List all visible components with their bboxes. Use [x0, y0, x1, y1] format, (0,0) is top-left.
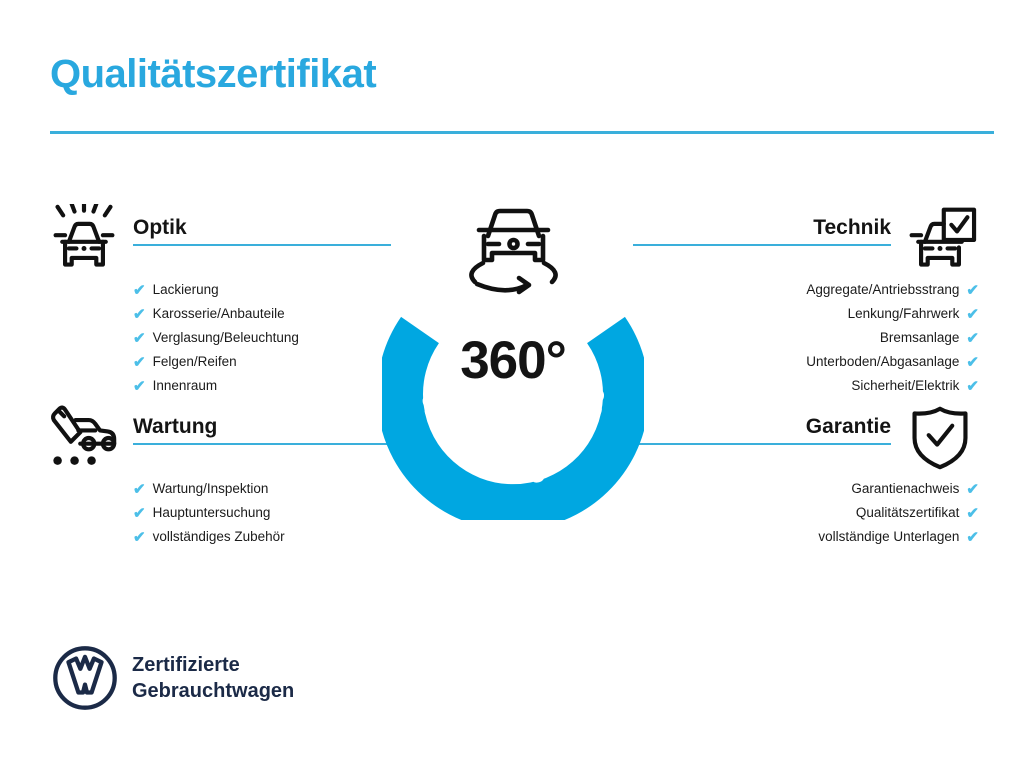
- car-checkbox-icon: [901, 208, 979, 270]
- list-item-label: Qualitätszertifikat: [856, 501, 960, 525]
- section-optik-title: Optik: [133, 216, 391, 239]
- list-item: ✔Wartung/Inspektion: [133, 477, 391, 501]
- check-icon: ✔: [133, 379, 146, 394]
- list-item: Qualitätszertifikat✔: [721, 501, 979, 525]
- section-garantie-list: Garantienachweis✔ Qualitätszertifikat✔ v…: [721, 477, 979, 549]
- section-optik-divider: [133, 244, 391, 246]
- check-icon: ✔: [133, 355, 146, 370]
- vw-logo-line2: Gebrauchtwagen: [132, 678, 294, 704]
- check-icon: ✔: [966, 530, 979, 545]
- list-item-label: Sicherheit/Elektrik: [851, 374, 959, 398]
- vw-logo-block: Zertifizierte Gebrauchtwagen: [52, 645, 294, 711]
- list-item-label: vollständiges Zubehör: [153, 525, 285, 549]
- check-icon: ✔: [133, 506, 146, 521]
- list-item: ✔Hauptuntersuchung: [133, 501, 391, 525]
- section-optik: Optik ✔Lackierung ✔Karosserie/Anbauteile…: [45, 208, 391, 398]
- list-item-label: Unterboden/Abgasanlage: [806, 350, 959, 374]
- vw-logo: [52, 645, 118, 711]
- check-icon: ✔: [966, 283, 979, 298]
- section-wartung-title: Wartung: [133, 415, 391, 438]
- list-item-label: Verglasung/Beleuchtung: [153, 326, 299, 350]
- section-technik-header: Technik: [721, 208, 979, 264]
- section-technik: Technik Aggregate/Antriebsstrang✔ Lenkun…: [721, 208, 979, 398]
- list-item: ✔Verglasung/Beleuchtung: [133, 326, 391, 350]
- list-item: Sicherheit/Elektrik✔: [721, 374, 979, 398]
- section-garantie-header: Garantie: [721, 407, 979, 463]
- section-technik-list: Aggregate/Antriebsstrang✔ Lenkung/Fahrwe…: [721, 278, 979, 398]
- check-icon: ✔: [133, 331, 146, 346]
- list-item: ✔vollständiges Zubehör: [133, 525, 391, 549]
- car-service-pencil-icon: [45, 407, 123, 469]
- section-optik-title-wrap: Optik: [133, 216, 391, 246]
- vw-logo-line1: Zertifizierte: [132, 652, 294, 678]
- section-optik-list: ✔Lackierung ✔Karosserie/Anbauteile ✔Verg…: [133, 278, 391, 398]
- list-item: ✔Felgen/Reifen: [133, 350, 391, 374]
- list-item: Bremsanlage✔: [721, 326, 979, 350]
- 360-check-badge: Gebrauchtwagen-Check 360°: [377, 196, 649, 488]
- section-wartung-list: ✔Wartung/Inspektion ✔Hauptuntersuchung ✔…: [133, 477, 391, 549]
- list-item-label: Lenkung/Fahrwerk: [848, 302, 960, 326]
- list-item-label: Karosserie/Anbauteile: [153, 302, 285, 326]
- list-item: ✔Innenraum: [133, 374, 391, 398]
- check-icon: ✔: [966, 506, 979, 521]
- check-icon: ✔: [133, 283, 146, 298]
- list-item-label: Hauptuntersuchung: [153, 501, 271, 525]
- section-technik-title-wrap: Technik: [633, 216, 891, 246]
- list-item-label: Aggregate/Antriebsstrang: [806, 278, 959, 302]
- section-garantie-title: Garantie: [633, 415, 891, 438]
- check-icon: ✔: [966, 331, 979, 346]
- section-garantie-title-wrap: Garantie: [633, 415, 891, 445]
- car-rotate-icon: [461, 196, 566, 296]
- vw-logo-text: Zertifizierte Gebrauchtwagen: [132, 652, 294, 704]
- page-title: Qualitätszertifikat: [50, 52, 376, 96]
- section-garantie: Garantie Garantienachweis✔ Qualitätszert…: [721, 407, 979, 549]
- title-divider: [50, 131, 994, 134]
- section-wartung-header: Wartung: [45, 407, 391, 463]
- badge-center-label: 360°: [377, 334, 649, 387]
- shield-check-icon: [901, 407, 979, 469]
- check-icon: ✔: [966, 355, 979, 370]
- check-icon: ✔: [966, 482, 979, 497]
- car-shine-icon: [45, 208, 123, 270]
- list-item: ✔Karosserie/Anbauteile: [133, 302, 391, 326]
- list-item-label: Wartung/Inspektion: [153, 477, 269, 501]
- list-item: Unterboden/Abgasanlage✔: [721, 350, 979, 374]
- list-item: Lenkung/Fahrwerk✔: [721, 302, 979, 326]
- list-item-label: Felgen/Reifen: [153, 350, 237, 374]
- list-item: Aggregate/Antriebsstrang✔: [721, 278, 979, 302]
- list-item-label: Garantienachweis: [851, 477, 959, 501]
- check-icon: ✔: [133, 482, 146, 497]
- check-icon: ✔: [133, 307, 146, 322]
- section-technik-divider: [633, 244, 891, 246]
- check-icon: ✔: [966, 307, 979, 322]
- section-technik-title: Technik: [633, 216, 891, 239]
- list-item-label: Innenraum: [153, 374, 218, 398]
- section-garantie-divider: [633, 443, 891, 445]
- check-icon: ✔: [133, 530, 146, 545]
- list-item-label: Lackierung: [153, 278, 219, 302]
- check-icon: ✔: [966, 379, 979, 394]
- section-wartung-title-wrap: Wartung: [133, 415, 391, 445]
- list-item-label: Bremsanlage: [880, 326, 960, 350]
- list-item: ✔Lackierung: [133, 278, 391, 302]
- section-wartung: Wartung ✔Wartung/Inspektion ✔Hauptunters…: [45, 407, 391, 549]
- list-item: Garantienachweis✔: [721, 477, 979, 501]
- section-optik-header: Optik: [45, 208, 391, 264]
- section-wartung-divider: [133, 443, 391, 445]
- list-item: vollständige Unterlagen✔: [721, 525, 979, 549]
- list-item-label: vollständige Unterlagen: [818, 525, 959, 549]
